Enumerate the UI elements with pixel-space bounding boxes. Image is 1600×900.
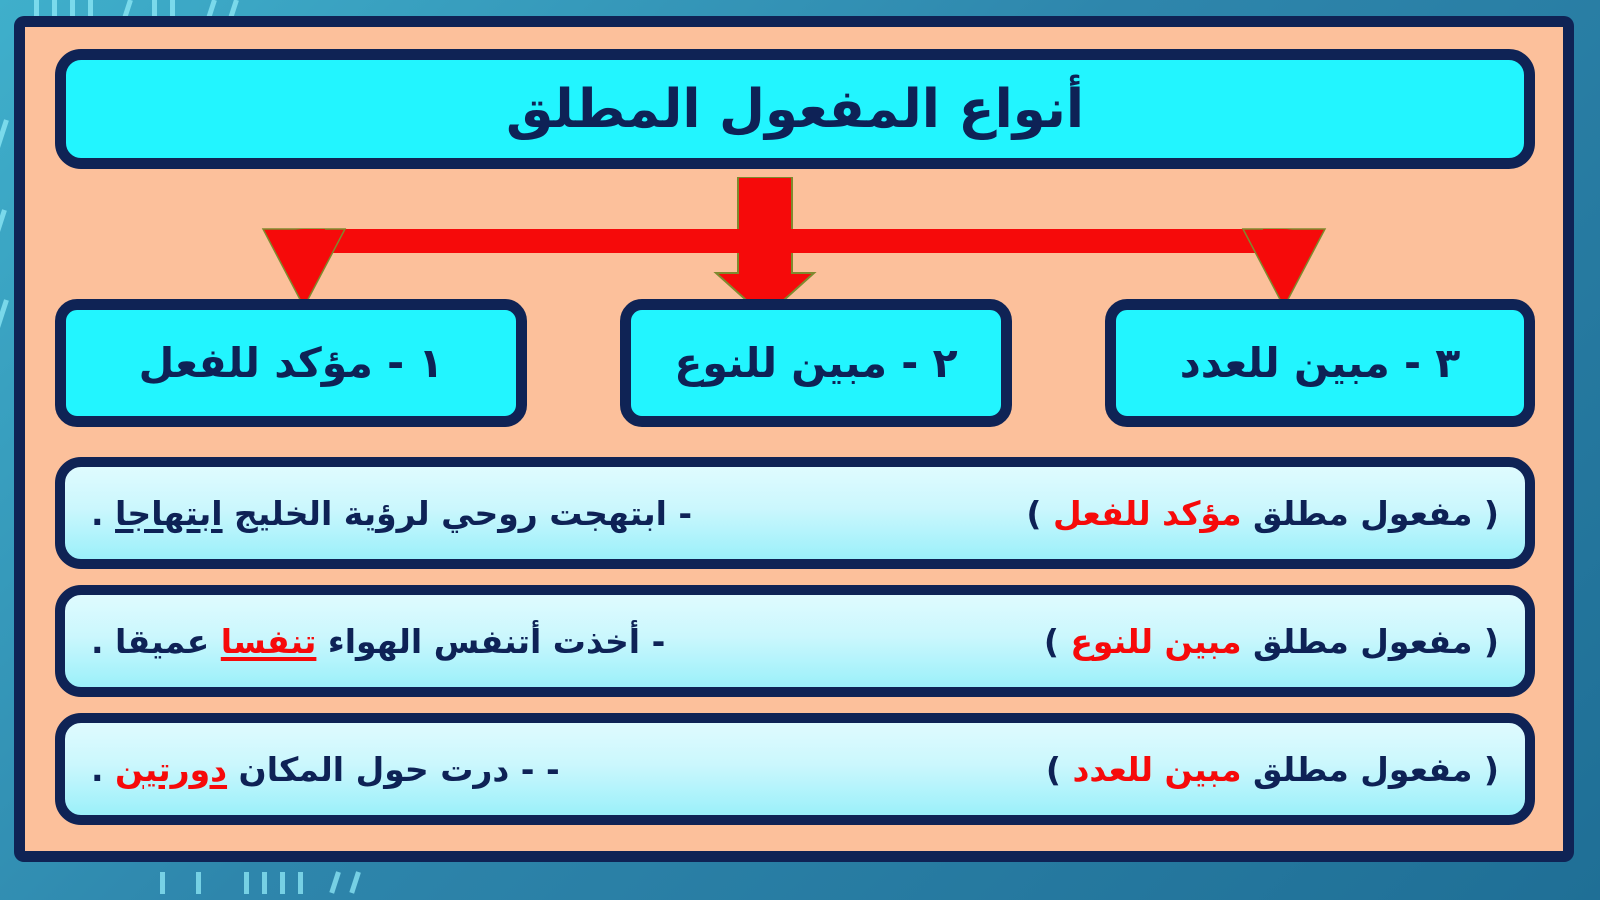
tag-close-1: ): [1026, 494, 1053, 533]
sentence-after-2: عميقا .: [91, 622, 221, 661]
category-label-2: ٢ - مبين للنوع: [674, 339, 957, 387]
example-sentence-3: - - درت حول المكان دورتين .: [91, 750, 576, 789]
example-sentence-2: - أخذت أتنفس الهواء تنفسا عميقا .: [91, 622, 681, 661]
sentence-keyword-3: دورتين: [115, 750, 227, 789]
tag-close-3: ): [1046, 750, 1073, 789]
arrow-down-left: [263, 229, 1293, 307]
sentence-keyword-1: ابتهاجا: [115, 494, 223, 533]
slide-title-box: أنواع المفعول المطلق: [55, 49, 1535, 169]
tag-close-2: ): [1044, 622, 1071, 661]
deco-tick: [262, 872, 267, 894]
deco-tick: [160, 872, 165, 894]
category-label-3: ٣ - مبين للعدد: [1180, 339, 1461, 387]
deco-tick: [298, 872, 303, 894]
sentence-after-1: .: [91, 494, 115, 533]
tag-type-2: مبين للنوع: [1070, 622, 1241, 661]
example-tag-2: ( مفعول مطلق مبين للنوع ): [1026, 622, 1499, 661]
category-box-1[interactable]: ١ - مؤكد للفعل: [55, 299, 527, 427]
deco-tick: [329, 871, 341, 893]
example-row-3[interactable]: ( مفعول مطلق مبين للعدد ) - - درت حول ال…: [55, 713, 1535, 825]
page-title: أنواع المفعول المطلق: [506, 83, 1084, 136]
tag-open-2: ( مفعول مطلق: [1242, 622, 1499, 661]
branch-arrows: [25, 177, 1563, 317]
category-label-1: ١ - مؤكد للفعل: [139, 339, 444, 387]
example-list: ( مفعول مطلق مؤكد للفعل ) - ابتهجت روحي …: [55, 457, 1535, 841]
deco-tick: [0, 119, 9, 160]
deco-tick: [0, 299, 9, 344]
category-box-2[interactable]: ٢ - مبين للنوع: [620, 299, 1012, 427]
example-row-1[interactable]: ( مفعول مطلق مؤكد للفعل ) - ابتهجت روحي …: [55, 457, 1535, 569]
sentence-before-1: - ابتهجت روحي لرؤية الخليج: [223, 494, 693, 533]
arrow-down-center: [716, 177, 814, 317]
tag-open-3: ( مفعول مطلق: [1242, 750, 1499, 789]
example-tag-3: ( مفعول مطلق مبين للعدد ): [1028, 750, 1499, 789]
tag-type-3: مبين للعدد: [1072, 750, 1241, 789]
category-row: ٣ - مبين للعدد ٢ - مبين للنوع ١ - مؤكد ل…: [55, 299, 1535, 427]
example-row-2[interactable]: ( مفعول مطلق مبين للنوع ) - أخذت أتنفس ا…: [55, 585, 1535, 697]
deco-tick: [196, 872, 201, 894]
sentence-after-3: .: [91, 750, 115, 789]
tag-open-1: ( مفعول مطلق: [1242, 494, 1499, 533]
arrow-down-right: [1243, 229, 1325, 307]
sentence-keyword-2: تنفسا: [221, 622, 317, 661]
sentence-before-3: - - درت حول المكان: [227, 750, 560, 789]
deco-tick: [244, 872, 249, 894]
example-tag-1: ( مفعول مطلق مؤكد للفعل ): [1008, 494, 1499, 533]
category-box-3[interactable]: ٣ - مبين للعدد: [1105, 299, 1535, 427]
deco-tick: [349, 871, 361, 893]
slide-panel: أنواع المفعول المطلق ٣ - مبين للعدد: [14, 16, 1574, 862]
example-sentence-1: - ابتهجت روحي لرؤية الخليج ابتهاجا .: [91, 494, 708, 533]
deco-tick: [280, 872, 285, 894]
deco-tick: [0, 209, 7, 247]
tag-type-1: مؤكد للفعل: [1053, 494, 1242, 533]
sentence-before-2: - أخذت أتنفس الهواء: [316, 622, 665, 661]
